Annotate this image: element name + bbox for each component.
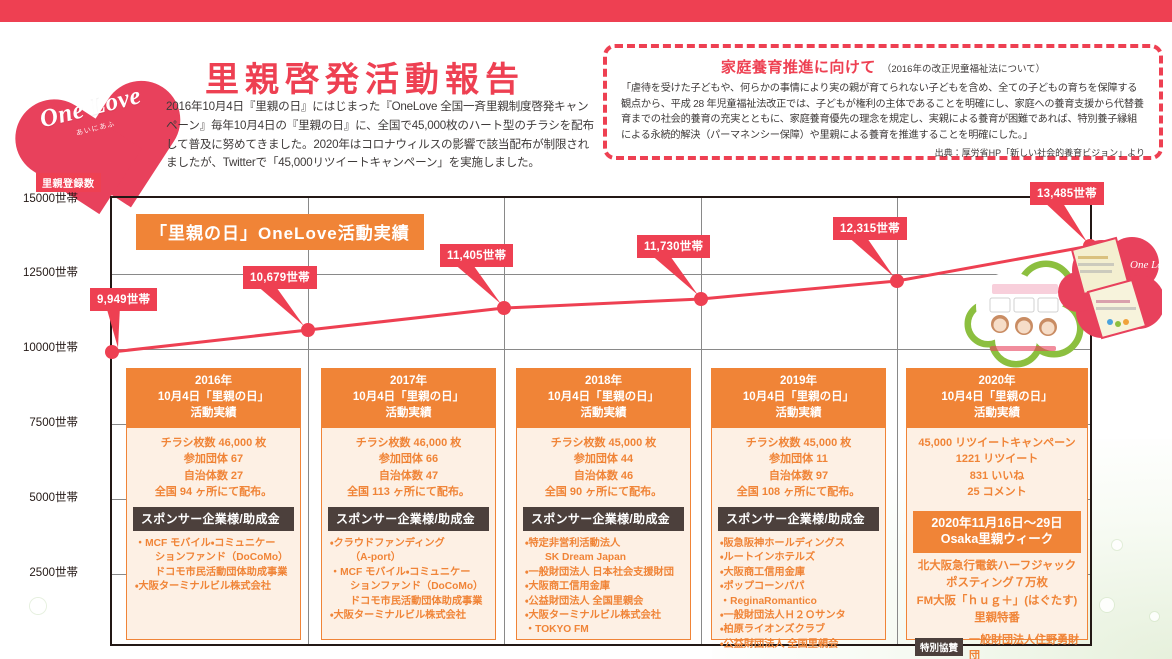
bubble-decoration — [1112, 540, 1122, 550]
stat-line: 自治体数 46 — [519, 468, 688, 485]
stat-line: 参加団体 66 — [324, 451, 493, 468]
card-stats: 45,000 リツイートキャンペーン 1221 リツイート 831 いいね 25… — [907, 428, 1087, 507]
card-head-line2: 10月4日「里親の日」 — [714, 390, 883, 406]
callout-tail — [106, 306, 120, 348]
card-head-line3: 活動実績 — [129, 406, 298, 422]
sponsor-list: ・特定非営利活動法人 SK Dream Japan ・一般財団法人 日本社会支援… — [517, 531, 690, 642]
sponsor-sub: ションファンド（DoCoMo） — [145, 551, 294, 565]
card-stats: チラシ枚数 45,000 枚 参加団体 11 自治体数 97 全国 108 ヶ所… — [712, 428, 885, 507]
sponsor-main: ・クラウドファンディング — [330, 538, 445, 549]
sponsor-sub: （A-port） — [340, 551, 489, 565]
tag-row-special-sponsor: 特別協賛 一般財団法人住野勇財団 — [907, 629, 1087, 659]
y-tick-label: 12500世帯 — [0, 264, 78, 280]
card-stats: チラシ枚数 45,000 枚 参加団体 44 自治体数 46 全国 90 ヶ所に… — [517, 428, 690, 507]
heart-icon — [11, 27, 153, 169]
card-head-line2: 10月4日「里親の日」 — [909, 390, 1085, 406]
card-head-line1: 2018年 — [519, 374, 688, 390]
card-head-line3: 活動実績 — [324, 406, 493, 422]
stat-line: チラシ枚数 46,000 枚 — [324, 435, 493, 452]
year-card-2018[interactable]: 2018年 10月4日「里親の日」 活動実績 チラシ枚数 45,000 枚 参加… — [516, 368, 691, 640]
year-card-2020[interactable]: 2020年 10月4日「里親の日」 活動実績 45,000 リツイートキャンペー… — [906, 368, 1088, 640]
data-point-2018 — [497, 301, 511, 315]
stat-line: 全国 94 ヶ所にて配布。 — [129, 484, 298, 501]
bubble-decoration — [30, 598, 46, 614]
stat-line: 参加団体 67 — [129, 451, 298, 468]
card-subheader: スポンサー企業様/助成金 — [133, 507, 294, 531]
data-point-2020a — [890, 274, 904, 288]
sponsor-sub: SK Dream Japan — [535, 551, 684, 565]
card-head-line1: 2016年 — [129, 374, 298, 390]
sponsor-main: ・大阪商工信用金庫 — [525, 581, 610, 592]
card-head-line2: 10月4日「里親の日」 — [519, 390, 688, 406]
year-card-2019[interactable]: 2019年 10月4日「里親の日」 活動実績 チラシ枚数 45,000 枚 参加… — [711, 368, 886, 640]
sponsor-main: ・ルートインホテルズ — [720, 552, 815, 563]
card-subheader: スポンサー企業様/助成金 — [523, 507, 684, 531]
list-item: ・クラウドファンディング （A-port） — [330, 537, 489, 566]
list-item: ・大阪ターミナルビル株式会社 — [330, 609, 489, 623]
callout-2019: 11,730世帯 — [637, 235, 710, 258]
sponsor-main: ・MCF モバイル・コミュニケー — [330, 567, 470, 578]
card-head-line1: 2017年 — [324, 374, 493, 390]
sponsor-main: ・公益財団法人 全国里親会 — [525, 596, 643, 607]
osaka-week-banner: 2020年11月16日〜29日 Osaka里親ウィーク — [913, 511, 1081, 554]
year-card-2017[interactable]: 2017年 10月4日「里親の日」 活動実績 チラシ枚数 46,000 枚 参加… — [321, 368, 496, 640]
tag-text: 一般財団法人住野勇財団 — [969, 631, 1087, 659]
sponsor-sub: ドコモ市民活動団体助成事業 — [145, 566, 294, 580]
stat-line: 全国 90 ヶ所にて配布。 — [519, 484, 688, 501]
sponsor-main: ・一般財団法人 日本社会支援財団 — [525, 567, 674, 578]
stat-line: 参加団体 11 — [714, 451, 883, 468]
list-item: ・大阪商工信用金庫 — [720, 566, 879, 580]
lead-paragraph: 2016年10月4日『里親の日』にはじまった『OneLove 全国一斉里親制度啓… — [166, 98, 598, 173]
y-tick-label: 2500世帯 — [0, 564, 78, 580]
stat-line: 25 コメント — [909, 484, 1085, 501]
callout-tail — [649, 253, 698, 295]
banner-line2: Osaka里親ウィーク — [915, 531, 1079, 548]
free-line: ポスティング７万枚 — [909, 575, 1085, 592]
sponsor-main: ・大阪ターミナルビル株式会社 — [330, 610, 466, 621]
sponsor-main: ・ReginaRomantico — [720, 596, 817, 607]
callout-2016: 9,949世帯 — [90, 288, 157, 311]
stat-line: チラシ枚数 45,000 枚 — [714, 435, 883, 452]
list-item: ・ReginaRomantico — [720, 595, 879, 609]
card-head-line3: 活動実績 — [519, 406, 688, 422]
sponsor-main: ・TOKYO FM — [525, 624, 589, 635]
onelove-logo: One Love あいにあふ — [8, 28, 173, 178]
stat-line: 1221 リツイート — [909, 451, 1085, 468]
sponsor-main: ・MCF モバイル・コミュニケー — [135, 538, 275, 549]
list-item: ・大阪商工信用金庫 — [525, 580, 684, 594]
list-item: ・公益財団法人 全国里親会 — [525, 595, 684, 609]
card-head-line1: 2020年 — [909, 374, 1085, 390]
card-head-line3: 活動実績 — [909, 406, 1085, 422]
sponsor-main: ・大阪ターミナルビル株式会社 — [525, 610, 661, 621]
callout-2018: 11,405世帯 — [440, 244, 513, 267]
list-item: ・大阪ターミナルビル株式会社 — [525, 609, 684, 623]
stat-line: 45,000 リツイートキャンペーン — [909, 435, 1085, 452]
svg-text:One Love: One Love — [1130, 259, 1162, 271]
free-line: 里親特番 — [909, 610, 1085, 627]
list-item: ・大阪ターミナルビル株式会社 — [135, 580, 294, 594]
data-point-2016 — [105, 345, 119, 359]
infographic-page: One Love あいにあふ 里親啓発活動報告 2016年10月4日『里親の日』… — [0, 0, 1172, 659]
free-line: 北大阪急行電鉄ハーフジャック — [909, 558, 1085, 575]
stat-line: チラシ枚数 46,000 枚 — [129, 435, 298, 452]
list-item: ・公益財団法人 全国里親会 — [720, 638, 879, 652]
card-head-line2: 10月4日「里親の日」 — [324, 390, 493, 406]
callout-2020a: 12,315世帯 — [833, 217, 907, 240]
card-head-line1: 2019年 — [714, 374, 883, 390]
flyer-decoration: One Love — [962, 228, 1162, 373]
sponsor-main: ・特定非営利活動法人 — [525, 538, 620, 549]
sponsor-list: ・MCF モバイル・コミュニケー ションファンド（DoCoMo） ドコモ市民活動… — [127, 531, 300, 599]
list-item: ・ポップコーンパパ — [720, 580, 879, 594]
list-item: ・MCF モバイル・コミュニケー ションファンド（DoCoMo） ドコモ市民活動… — [135, 537, 294, 580]
stat-line: 自治体数 27 — [129, 468, 298, 485]
card-stats: チラシ枚数 46,000 枚 参加団体 67 自治体数 27 全国 94 ヶ所に… — [127, 428, 300, 507]
card-stats: チラシ枚数 46,000 枚 参加団体 66 自治体数 47 全国 113 ヶ所… — [322, 428, 495, 507]
data-point-2019 — [694, 292, 708, 306]
bubble-decoration — [1150, 612, 1159, 621]
stat-line: 831 いいね — [909, 468, 1085, 485]
note-body: 「虐待を受けた子どもや、何らかの事情により実の親が育てられない子どもを含め、全て… — [621, 81, 1145, 143]
y-tick-label: 5000世帯 — [0, 489, 78, 505]
stat-line: 全国 113 ヶ所にて配布。 — [324, 484, 493, 501]
stat-line: 自治体数 97 — [714, 468, 883, 485]
list-item: ・一般財団法人Ｈ２Ｏサンタ — [720, 609, 879, 623]
list-item: ・特定非営利活動法人 SK Dream Japan — [525, 537, 684, 566]
card-header: 2017年 10月4日「里親の日」 活動実績 — [322, 369, 495, 428]
callout-2020b: 13,485世帯 — [1030, 182, 1104, 205]
sponsor-sub: ドコモ市民活動団体助成事業 — [340, 595, 489, 609]
callout-tail — [452, 262, 501, 304]
callout-2017: 10,679世帯 — [243, 266, 317, 289]
sponsor-list: ・クラウドファンディング （A-port） ・MCF モバイル・コミュニケー シ… — [322, 531, 495, 628]
policy-note-box: 家庭養育推進に向けて（2016年の改正児童福祉法について） 「虐待を受けた子ども… — [603, 44, 1163, 160]
note-header: 家庭養育推進に向けて（2016年の改正児童福祉法について） — [621, 56, 1145, 77]
note-subtitle: （2016年の改正児童福祉法について） — [882, 64, 1045, 75]
card-head-line3: 活動実績 — [714, 406, 883, 422]
sponsor-main: ・阪急阪神ホールディングス — [720, 538, 845, 549]
sponsor-main: ・柏原ライオンズクラブ — [720, 624, 825, 635]
sponsor-main: ・一般財団法人Ｈ２Ｏサンタ — [720, 610, 846, 621]
top-red-banner — [0, 0, 1172, 22]
card-header: 2018年 10月4日「里親の日」 活動実績 — [517, 369, 690, 428]
y-tick-label: 15000世帯 — [0, 190, 78, 206]
callout-tail — [846, 235, 894, 277]
card-header: 2016年 10月4日「里親の日」 活動実績 — [127, 369, 300, 428]
card-header: 2019年 10月4日「里親の日」 活動実績 — [712, 369, 885, 428]
flyer-cluster-icon: One Love — [962, 228, 1162, 373]
note-title: 家庭養育推進に向けて — [721, 59, 876, 76]
card-free-text: 北大阪急行電鉄ハーフジャック ポスティング７万枚 FM大阪「ｈｕｇ＋」(はぐたす… — [907, 553, 1087, 628]
page-title: 里親啓発活動報告 — [205, 52, 595, 101]
banner-line1: 2020年11月16日〜29日 — [915, 515, 1079, 532]
stat-line: 全国 108 ヶ所にて配布。 — [714, 484, 883, 501]
sponsor-main: ・公益財団法人 全国里親会 — [720, 639, 838, 650]
stat-line: 自治体数 47 — [324, 468, 493, 485]
bubble-decoration — [1100, 598, 1114, 612]
list-item: ・柏原ライオンズクラブ — [720, 623, 879, 637]
callout-tail — [255, 284, 304, 326]
sponsor-sub: ションファンド（DoCoMo） — [340, 580, 489, 594]
stat-line: 参加団体 44 — [519, 451, 688, 468]
free-line: FM大阪「ｈｕｇ＋」(はぐたす) — [909, 593, 1085, 610]
year-card-2016[interactable]: 2016年 10月4日「里親の日」 活動実績 チラシ枚数 46,000 枚 参加… — [126, 368, 301, 640]
y-tick-label: 10000世帯 — [0, 339, 78, 355]
tag-label: 特別協賛 — [915, 638, 963, 656]
list-item: ・TOKYO FM — [525, 623, 684, 637]
sponsor-main: ・ポップコーンパパ — [720, 581, 804, 592]
sponsor-main: ・大阪ターミナルビル株式会社 — [135, 581, 271, 592]
list-item: ・阪急阪神ホールディングス — [720, 537, 879, 551]
list-item: ・ルートインホテルズ — [720, 551, 879, 565]
sponsor-list: ・阪急阪神ホールディングス ・ルートインホテルズ ・大阪商工信用金庫 ・ポップコ… — [712, 531, 885, 657]
sponsor-main: ・大阪商工信用金庫 — [720, 567, 805, 578]
y-tick-label: 7500世帯 — [0, 414, 78, 430]
card-subheader: スポンサー企業様/助成金 — [328, 507, 489, 531]
note-source: 出典：厚労省HP「新しい社会的養育ビジョン」より — [621, 146, 1145, 159]
card-head-line2: 10月4日「里親の日」 — [129, 390, 298, 406]
list-item: ・MCF モバイル・コミュニケー ションファンド（DoCoMo） ドコモ市民活動… — [330, 566, 489, 609]
card-header: 2020年 10月4日「里親の日」 活動実績 — [907, 369, 1087, 428]
list-item: ・一般財団法人 日本社会支援財団 — [525, 566, 684, 580]
card-subheader: スポンサー企業様/助成金 — [718, 507, 879, 531]
chart-line — [112, 246, 1090, 352]
stat-line: チラシ枚数 45,000 枚 — [519, 435, 688, 452]
